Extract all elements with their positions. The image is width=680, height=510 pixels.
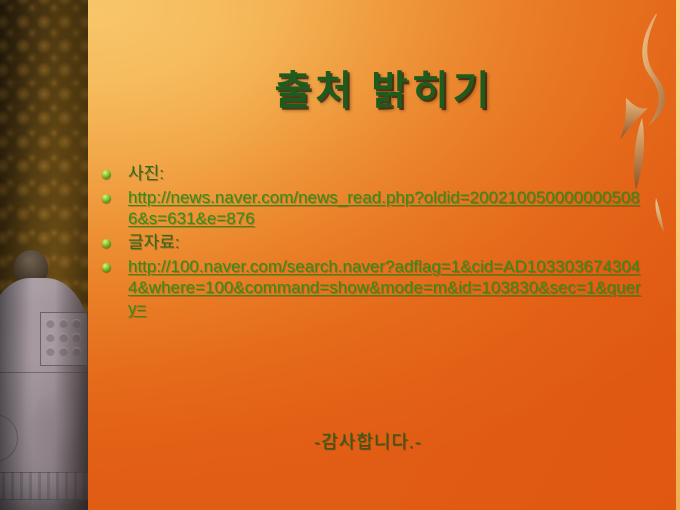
bullet-item-text-label: 글자료: — [102, 232, 642, 253]
slide-body: 사진: http://news.naver.com/news_read.php?… — [102, 163, 642, 322]
green-sphere-bullet-icon — [102, 194, 111, 203]
slide-title: 출처 밝히기 — [88, 58, 680, 116]
bullet-item-photo-link[interactable]: http://news.naver.com/news_read.php?oldi… — [102, 187, 642, 229]
bullet-item-text-link[interactable]: http://100.naver.com/search.naver?adflag… — [102, 256, 642, 319]
green-sphere-bullet-icon — [102, 239, 111, 248]
hyperlink-100-naver-url: http://100.naver.com/search.naver?adflag… — [128, 257, 641, 318]
hyperlink-100-naver[interactable]: http://100.naver.com/search.naver?adflag… — [128, 256, 642, 319]
left-photo-strip — [0, 0, 88, 510]
bullet-item-photo-label: 사진: — [102, 163, 642, 184]
closing-remark: -감사합니다.- — [88, 428, 648, 454]
green-sphere-bullet-icon — [102, 263, 111, 272]
bullet-label-photo: 사진: — [128, 163, 164, 184]
green-sphere-bullet-icon — [102, 170, 111, 179]
strip-shading — [0, 0, 88, 510]
hyperlink-news-naver[interactable]: http://news.naver.com/news_read.php?oldi… — [128, 187, 642, 229]
hyperlink-100-naver-tail: = — [137, 299, 147, 318]
presentation-slide: 출처 밝히기 사진: http://news.naver.com/news_re… — [0, 0, 680, 510]
bullet-label-text-source: 글자료: — [128, 232, 180, 253]
